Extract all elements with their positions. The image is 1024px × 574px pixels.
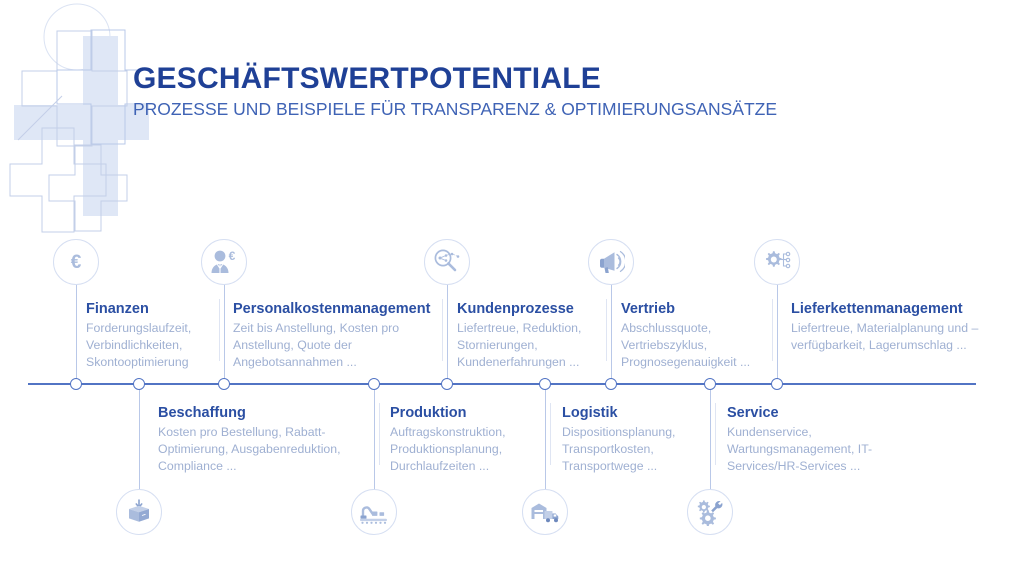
- gear-network-icon: [762, 248, 792, 276]
- icon-badge-personalkosten[interactable]: €: [201, 239, 247, 285]
- card-divider: [772, 299, 773, 361]
- card-title: Kundenprozesse: [457, 300, 605, 318]
- card-title: Lieferkettenmanagement: [791, 300, 983, 318]
- timeline-node[interactable]: [70, 378, 82, 390]
- card-divider: [550, 403, 551, 465]
- connector-stem-beschaffung: [139, 384, 140, 506]
- card-description: Kosten pro Bestellung, Rabatt-Optimierun…: [158, 424, 373, 475]
- card-divider: [379, 403, 380, 465]
- timeline-node[interactable]: [368, 378, 380, 390]
- icon-badge-logistik[interactable]: [522, 489, 568, 535]
- card-divider: [606, 299, 607, 361]
- open-box-icon: [125, 498, 153, 526]
- card-title: Beschaffung: [158, 404, 373, 422]
- card-description: Forderungslaufzeit, Verbindlichkeiten, S…: [86, 320, 208, 371]
- card-divider: [715, 403, 716, 465]
- robot-arm-conveyor-icon: [359, 499, 389, 525]
- card-finanzen[interactable]: Finanzen Forderungslaufzeit, Verbindlich…: [86, 300, 208, 371]
- card-title: Logistik: [562, 404, 707, 422]
- icon-badge-vertrieb[interactable]: [588, 239, 634, 285]
- card-kundenprozesse[interactable]: Kundenprozesse Liefertreue, Reduktion, S…: [457, 300, 605, 371]
- connector-stem-produktion: [374, 384, 375, 506]
- icon-badge-beschaffung[interactable]: [116, 489, 162, 535]
- card-title: Personalkostenmanagement: [233, 300, 438, 318]
- card-description: Liefertreue, Reduktion, Stornierungen, K…: [457, 320, 605, 371]
- gears-wrench-icon: [696, 498, 724, 526]
- page-header: GESCHÄFTSWERTPOTENTIALE PROZESSE UND BEI…: [133, 62, 933, 120]
- card-service[interactable]: Service Kundenservice, Wartungsmanagemen…: [727, 404, 892, 475]
- icon-badge-produktion[interactable]: [351, 489, 397, 535]
- timeline-node[interactable]: [218, 378, 230, 390]
- card-description: Auftragskonstruktion, Produktionsplanung…: [390, 424, 540, 475]
- card-title: Vertrieb: [621, 300, 771, 318]
- timeline-node[interactable]: [539, 378, 551, 390]
- svg-text:€: €: [71, 252, 82, 273]
- card-title: Finanzen: [86, 300, 208, 318]
- svg-text:€: €: [229, 249, 236, 263]
- card-divider: [219, 299, 220, 361]
- card-description: Dispositionsplanung, Transportkosten, Tr…: [562, 424, 707, 475]
- card-description: Zeit bis Anstellung, Kosten pro Anstellu…: [233, 320, 438, 371]
- megaphone-icon: [597, 248, 625, 276]
- card-title: Service: [727, 404, 892, 422]
- page-title: GESCHÄFTSWERTPOTENTIALE: [133, 62, 933, 96]
- timeline-node[interactable]: [771, 378, 783, 390]
- icon-badge-kundenprozesse[interactable]: [424, 239, 470, 285]
- card-divider: [442, 299, 443, 361]
- timeline-node[interactable]: [605, 378, 617, 390]
- card-logistik[interactable]: Logistik Dispositionsplanung, Transportk…: [562, 404, 707, 475]
- decorative-watermark: [0, 0, 150, 235]
- magnifier-process-icon: [432, 248, 462, 276]
- card-title: Produktion: [390, 404, 540, 422]
- warehouse-truck-icon: [530, 500, 560, 524]
- timeline-node[interactable]: [704, 378, 716, 390]
- card-personalkostenmanagement[interactable]: Personalkostenmanagement Zeit bis Anstel…: [233, 300, 438, 371]
- person-euro-icon: €: [209, 248, 239, 276]
- card-lieferkettenmanagement[interactable]: Lieferkettenmanagement Liefertreue, Mate…: [791, 300, 983, 354]
- connector-stem-service: [710, 384, 711, 506]
- card-description: Abschlussquote, Vertriebszyklus, Prognos…: [621, 320, 771, 371]
- timeline-axis: [28, 383, 976, 385]
- card-produktion[interactable]: Produktion Auftragskonstruktion, Produkt…: [390, 404, 540, 475]
- card-description: Kundenservice, Wartungsmanagement, IT-Se…: [727, 424, 892, 475]
- timeline-node[interactable]: [133, 378, 145, 390]
- euro-icon: €: [63, 249, 89, 275]
- icon-badge-lieferkette[interactable]: [754, 239, 800, 285]
- card-vertrieb[interactable]: Vertrieb Abschlussquote, Vertriebszyklus…: [621, 300, 771, 371]
- icon-badge-service[interactable]: [687, 489, 733, 535]
- icon-badge-finanzen[interactable]: €: [53, 239, 99, 285]
- card-description: Liefertreue, Materialplanung und –verfüg…: [791, 320, 983, 354]
- timeline-node[interactable]: [441, 378, 453, 390]
- page-subtitle: PROZESSE UND BEISPIELE FÜR TRANSPARENZ &…: [133, 99, 933, 120]
- card-beschaffung[interactable]: Beschaffung Kosten pro Bestellung, Rabat…: [158, 404, 373, 475]
- connector-stem-logistik: [545, 384, 546, 506]
